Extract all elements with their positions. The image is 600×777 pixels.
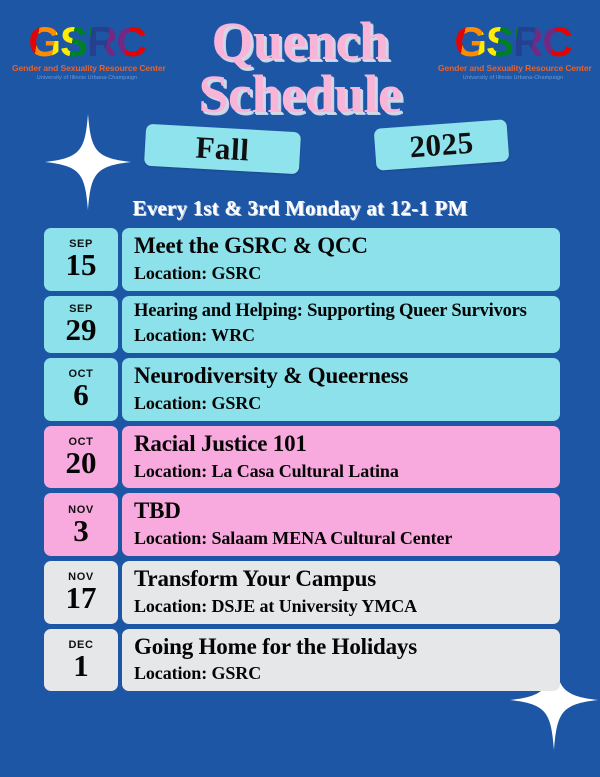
- event-title: Transform Your Campus: [134, 567, 550, 591]
- date-day: 6: [73, 379, 89, 410]
- gsrc-logo-left: GSRC Gender and Sexuality Resource Cente…: [12, 22, 162, 81]
- date-cell: NOV 3: [44, 493, 118, 556]
- event-title: Meet the GSRC & QCC: [134, 234, 550, 258]
- date-day: 17: [66, 582, 97, 613]
- event-location: Location: GSRC: [134, 263, 550, 284]
- schedule-row: OCT 6 Neurodiversity & Queerness Locatio…: [44, 358, 560, 421]
- date-day: 3: [73, 515, 89, 546]
- date-cell: SEP 29: [44, 296, 118, 354]
- schedule-list: SEP 15 Meet the GSRC & QCC Location: GSR…: [44, 228, 560, 696]
- event-info-cell: Hearing and Helping: Supporting Queer Su…: [122, 296, 560, 354]
- date-cell: SEP 15: [44, 228, 118, 291]
- date-cell: DEC 1: [44, 629, 118, 692]
- date-day: 29: [66, 314, 97, 345]
- date-day: 15: [66, 249, 97, 280]
- event-info-cell: Neurodiversity & Queerness Location: GSR…: [122, 358, 560, 421]
- schedule-row: NOV 3 TBD Location: Salaam MENA Cultural…: [44, 493, 560, 556]
- event-info-cell: Transform Your Campus Location: DSJE at …: [122, 561, 560, 624]
- event-title: Racial Justice 101: [134, 432, 550, 456]
- event-location: Location: La Casa Cultural Latina: [134, 461, 550, 482]
- season-badge: Fall: [144, 124, 301, 175]
- event-title: Hearing and Helping: Supporting Queer Su…: [134, 302, 550, 321]
- date-cell: OCT 20: [44, 426, 118, 489]
- gsrc-logo-right: GSRC Gender and Sexuality Resource Cente…: [438, 22, 588, 81]
- event-info-cell: TBD Location: Salaam MENA Cultural Cente…: [122, 493, 560, 556]
- event-location: Location: Salaam MENA Cultural Center: [134, 528, 550, 549]
- event-location: Location: GSRC: [134, 393, 550, 414]
- quench-schedule-poster: GSRC Gender and Sexuality Resource Cente…: [0, 0, 600, 777]
- year-badge: 2025: [374, 119, 510, 171]
- event-info-cell: Racial Justice 101 Location: La Casa Cul…: [122, 426, 560, 489]
- gsrc-logo-university: University of Illinois Urbana-Champaign: [438, 75, 588, 81]
- event-location: Location: WRC: [134, 325, 550, 346]
- event-info-cell: Meet the GSRC & QCC Location: GSRC: [122, 228, 560, 291]
- schedule-row: OCT 20 Racial Justice 101 Location: La C…: [44, 426, 560, 489]
- date-day: 20: [66, 447, 97, 478]
- event-location: Location: GSRC: [134, 663, 550, 684]
- gsrc-logo-university: University of Illinois Urbana-Champaign: [12, 75, 162, 81]
- date-cell: OCT 6: [44, 358, 118, 421]
- schedule-subtitle: Every 1st & 3rd Monday at 12-1 PM: [0, 196, 600, 221]
- date-cell: NOV 17: [44, 561, 118, 624]
- event-title: TBD: [134, 499, 550, 523]
- schedule-row: NOV 17 Transform Your Campus Location: D…: [44, 561, 560, 624]
- date-day: 1: [73, 650, 89, 681]
- schedule-row: SEP 15 Meet the GSRC & QCC Location: GSR…: [44, 228, 560, 291]
- event-title: Going Home for the Holidays: [134, 635, 550, 659]
- event-title: Neurodiversity & Queerness: [134, 364, 550, 388]
- schedule-row: DEC 1 Going Home for the Holidays Locati…: [44, 629, 560, 692]
- schedule-row: SEP 29 Hearing and Helping: Supporting Q…: [44, 296, 560, 354]
- event-info-cell: Going Home for the Holidays Location: GS…: [122, 629, 560, 692]
- event-location: Location: DSJE at University YMCA: [134, 596, 550, 617]
- gsrc-wordmark-icon: GSRC: [454, 22, 571, 62]
- gsrc-wordmark-icon: GSRC: [28, 22, 145, 62]
